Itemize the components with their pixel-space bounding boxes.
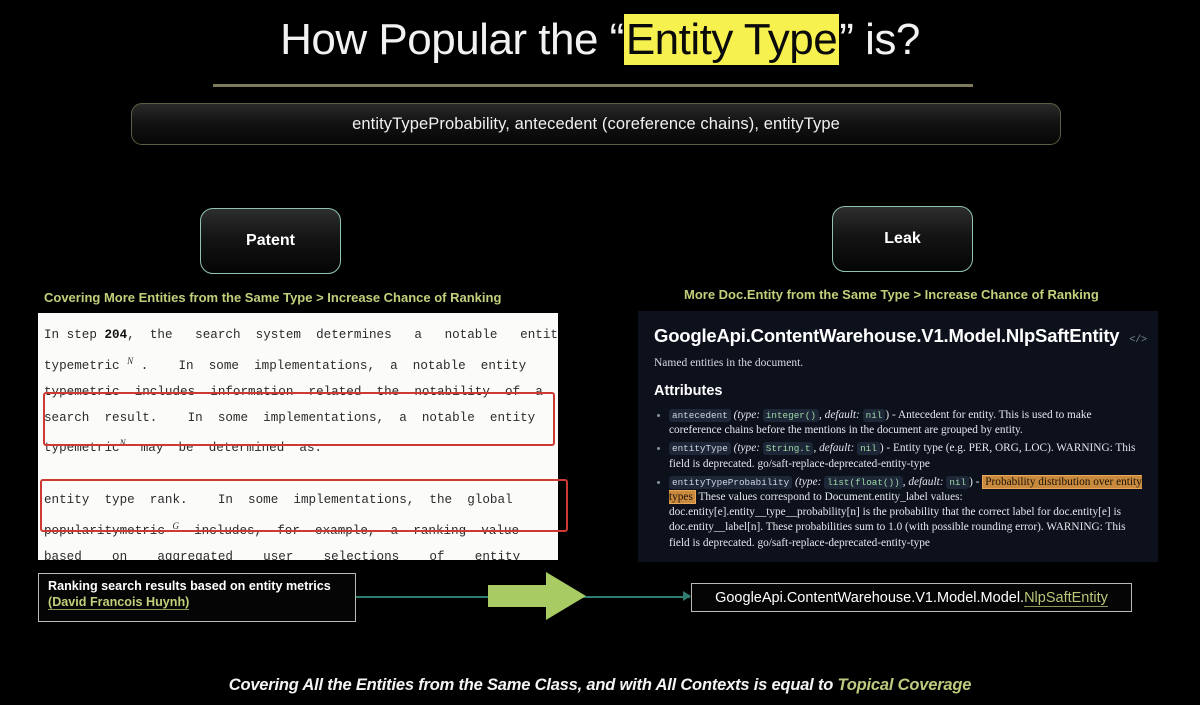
leak-button[interactable]: Leak bbox=[832, 206, 973, 272]
attribute-name-chip: entityType bbox=[669, 442, 731, 455]
attribute-type-label: (type: bbox=[734, 442, 760, 454]
block-arrow-icon bbox=[488, 572, 586, 620]
connector-arrowhead-icon bbox=[683, 591, 691, 601]
patent-line1-bold: 204 bbox=[104, 328, 127, 342]
leak-documentation-panel: GoogleApi.ContentWarehouse.V1.Model.NlpS… bbox=[638, 311, 1158, 562]
attribute-description: These values correspond to Document.enti… bbox=[669, 491, 1126, 549]
attribute-name-chip: antecedent bbox=[669, 409, 731, 422]
patent-line2-b: . In some implementations, a notable ent… bbox=[133, 359, 526, 373]
patent-line1-b: , the search system determines a notable… bbox=[127, 328, 558, 342]
attribute-dash: - bbox=[889, 409, 898, 421]
attribute-item-entitytypeprobability: entityTypeProbability (type: list(float(… bbox=[654, 475, 1142, 551]
leak-doc-title: GoogleApi.ContentWarehouse.V1.Model.NlpS… bbox=[654, 325, 1142, 347]
attribute-dash: - bbox=[884, 442, 893, 454]
patent-line1-a: In step bbox=[44, 328, 104, 342]
attribute-type-chip: String.t bbox=[763, 442, 814, 455]
code-icon[interactable]: </> bbox=[1129, 335, 1146, 346]
attribute-item-antecedent: antecedent (type: integer(), default: ni… bbox=[654, 408, 1142, 438]
patent-line2-a: typemetric bbox=[44, 359, 127, 373]
attribute-default-chip: nil bbox=[857, 442, 880, 455]
patent-source-author: (David Francois Huynh) bbox=[48, 595, 189, 610]
footer-caption-main: Covering All the Entities from the Same … bbox=[229, 676, 838, 694]
attributes-heading: Attributes bbox=[654, 383, 1142, 399]
attributes-list: antecedent (type: integer(), default: ni… bbox=[654, 408, 1142, 551]
title-divider bbox=[213, 84, 973, 87]
subtitle-pill: entityTypeProbability, antecedent (coref… bbox=[131, 103, 1061, 145]
patent-highlight-box-2 bbox=[40, 479, 568, 532]
attribute-dash: - bbox=[973, 476, 982, 488]
page-title-highlight: Entity Type bbox=[624, 14, 839, 65]
leak-model-path-callout: GoogleApi.ContentWarehouse.V1.Model.Mode… bbox=[691, 583, 1132, 612]
attribute-item-entitytype: entityType (type: String.t, default: nil… bbox=[654, 441, 1142, 471]
attribute-type-label: (type: bbox=[734, 409, 760, 421]
subtitle-pill-label: entityTypeProbability, antecedent (coref… bbox=[352, 115, 840, 134]
patent-column-caption: Covering More Entities from the Same Typ… bbox=[44, 290, 501, 305]
page-title-after: ” is? bbox=[839, 15, 920, 64]
attribute-default-label: default: bbox=[908, 476, 943, 488]
footer-caption: Covering All the Entities from the Same … bbox=[0, 676, 1200, 695]
attribute-name-chip: entityTypeProbability bbox=[669, 476, 792, 489]
patent-source-callout: Ranking search results based on entity m… bbox=[38, 573, 356, 622]
attribute-type-chip: integer() bbox=[763, 409, 819, 422]
leak-button-label: Leak bbox=[884, 230, 920, 248]
leak-doc-description: Named entities in the document. bbox=[654, 357, 1142, 369]
patent-button[interactable]: Patent bbox=[200, 208, 341, 274]
leak-doc-title-text: GoogleApi.ContentWarehouse.V1.Model.NlpS… bbox=[654, 325, 1119, 347]
attribute-default-chip: nil bbox=[863, 409, 886, 422]
attribute-type-chip: list(float()) bbox=[824, 476, 903, 489]
title-area: How Popular the “Entity Type” is? bbox=[0, 14, 1200, 66]
attribute-default-chip: nil bbox=[946, 476, 969, 489]
leak-model-path: GoogleApi.ContentWarehouse.V1.Model.Mode… bbox=[715, 590, 1108, 606]
attribute-default-label: default: bbox=[825, 409, 860, 421]
patent-line9: based on aggregated user selections of e… bbox=[44, 550, 520, 560]
leak-model-path-accent: NlpSaftEntity bbox=[1024, 590, 1108, 607]
page-title: How Popular the “Entity Type” is? bbox=[0, 14, 1200, 66]
leak-model-path-prefix: GoogleApi.ContentWarehouse.V1.Model.Mode… bbox=[715, 590, 1024, 606]
patent-highlight-box-1 bbox=[43, 392, 555, 446]
attribute-type-label: (type: bbox=[795, 476, 821, 488]
patent-button-label: Patent bbox=[246, 232, 295, 250]
attribute-default-label: default: bbox=[819, 442, 854, 454]
footer-caption-accent: Topical Coverage bbox=[838, 676, 972, 694]
page-title-before: How Popular the “ bbox=[280, 15, 624, 64]
patent-source-title: Ranking search results based on entity m… bbox=[48, 579, 346, 593]
leak-column-caption: More Doc.Entity from the Same Type > Inc… bbox=[684, 287, 1099, 302]
